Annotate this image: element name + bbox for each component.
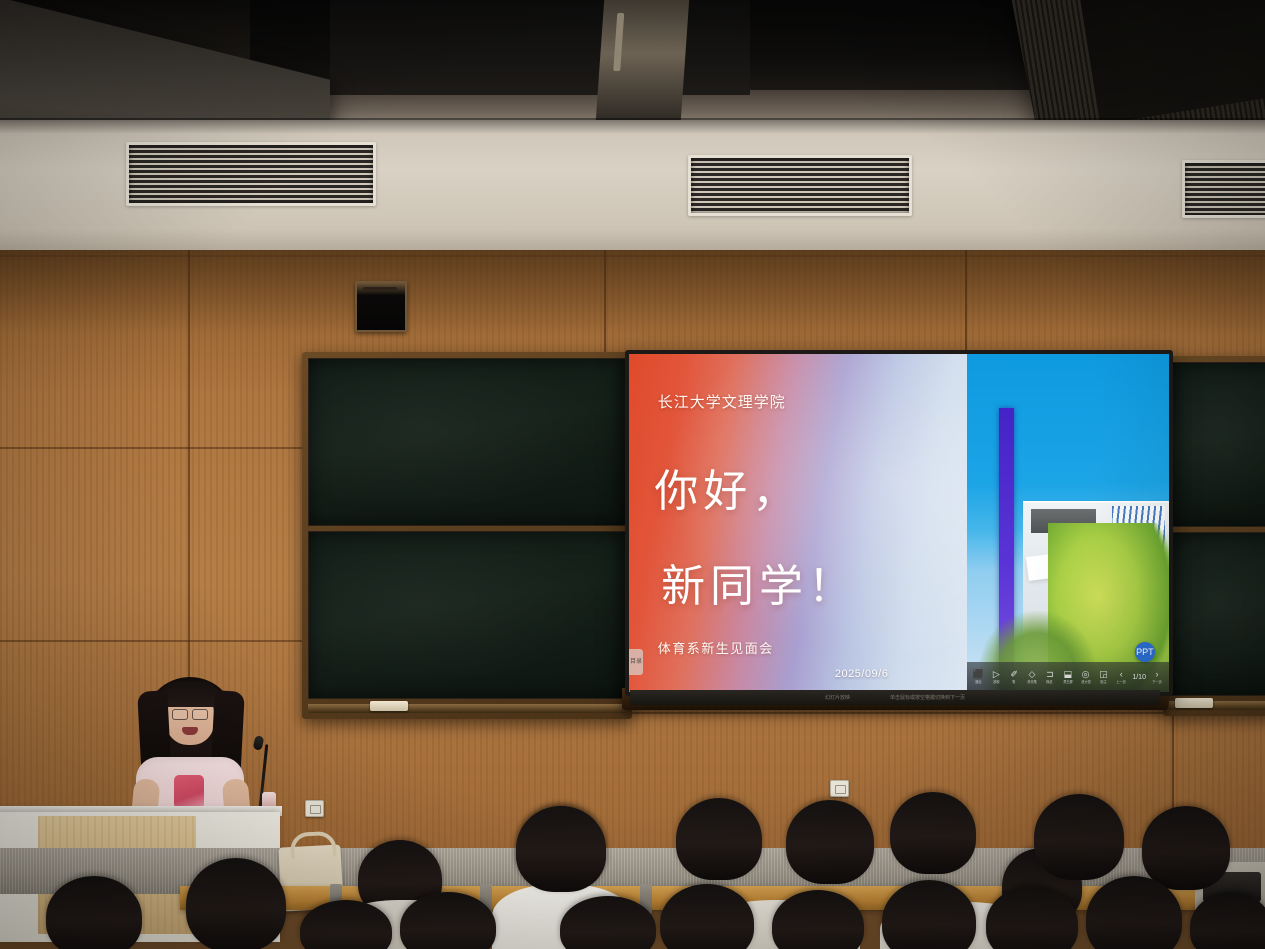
slide-organization: 长江大学文理学院	[658, 391, 786, 412]
audience-head	[1142, 806, 1230, 890]
wall-seam	[604, 250, 606, 360]
toolbar-button-highlighter[interactable]: ◇ 荧光笔	[1023, 670, 1041, 684]
chalk-eraser	[1175, 698, 1213, 708]
hvac-vent-right	[1182, 160, 1265, 218]
chalkboard-pane-lower	[1169, 532, 1265, 697]
toolbar-button-prev[interactable]: ‹ 上一页	[1112, 670, 1130, 684]
toolbar-button-magnifier[interactable]: ◎ 放大镜	[1077, 670, 1095, 684]
chalk-ledge	[308, 704, 626, 713]
pen-icon: ✐	[1010, 670, 1018, 679]
chevron-right-icon: ›	[1156, 670, 1159, 679]
slide-side-tab[interactable]: 目录	[629, 649, 643, 675]
wall-seam	[965, 250, 967, 350]
chalkboard-right	[1163, 356, 1265, 716]
wall-power-outlet	[830, 780, 849, 797]
presenter-glasses	[172, 709, 208, 718]
chalkboard-pane-lower	[308, 531, 626, 699]
chalkboard-pane-upper	[1169, 362, 1265, 527]
statusbar-left-text: 幻灯片放映	[825, 694, 850, 701]
eraser-icon: ⊐	[1046, 670, 1054, 679]
chevron-left-icon: ‹	[1120, 670, 1123, 679]
slide-photo-panel: PPT	[967, 354, 1170, 692]
audience-head	[890, 792, 976, 874]
presenter-mouth	[182, 727, 198, 735]
chalkboard-main	[302, 352, 632, 719]
audience-head	[186, 858, 286, 949]
presenter-shirt-graphic	[174, 775, 204, 809]
magnifier-icon: ◎	[1082, 670, 1090, 679]
exit-icon: ⬛	[973, 670, 984, 679]
slide-heading-line2: 新同学！	[661, 550, 857, 614]
toolbar-page-indicator: 1/10	[1130, 674, 1148, 681]
wall-speaker	[355, 281, 407, 332]
ceiling-beam	[595, 0, 689, 125]
statusbar-center-text: 单击鼠标或按空格键切换到下一页	[890, 694, 965, 701]
chalk-ledge	[1169, 701, 1265, 710]
wall-seam	[0, 640, 305, 642]
toolbar-button-exit[interactable]: ⬛ 退出	[970, 670, 988, 684]
presenter-bangs	[160, 681, 220, 707]
microphone-head	[253, 735, 265, 751]
audience-head	[46, 876, 142, 949]
chalk-eraser	[370, 701, 408, 711]
presentation-slide: 长江大学文理学院 你好， 新同学！ 体育系新生见面会 2025/09/6 目录 …	[629, 354, 1169, 692]
hvac-vent-left	[126, 142, 376, 206]
wall-seam	[0, 447, 310, 449]
slide-text-panel: 长江大学文理学院 你好， 新同学！ 体育系新生见面会 2025/09/6 目录	[629, 354, 967, 692]
toolbar-button-play[interactable]: ▷ 放映	[987, 670, 1005, 684]
wall-power-outlet	[305, 800, 324, 817]
presentation-toolbar[interactable]: ⬛ 退出 ▷ 放映 ✐ 笔 ◇ 荧光笔 ⊐ 橡皮	[967, 662, 1170, 692]
audience-head	[786, 800, 874, 884]
slide-date: 2025/09/6	[835, 668, 888, 680]
presentation-statusbar: 幻灯片放映 单击鼠标或按空格键切换到下一页	[630, 690, 1160, 705]
lecture-hall-photo: 长江大学文理学院 你好， 新同学！ 体育系新生见面会 2025/09/6 目录 …	[0, 0, 1265, 949]
projection-screen: 长江大学文理学院 你好， 新同学！ 体育系新生见面会 2025/09/6 目录 …	[625, 350, 1173, 696]
audience-head	[676, 798, 762, 880]
slide-subtitle: 体育系新生见面会	[658, 638, 774, 657]
toolbar-button-annotate[interactable]: ◲ 批注	[1095, 670, 1113, 684]
highlighter-icon: ◇	[1029, 670, 1036, 679]
toolbar-button-next[interactable]: › 下一页	[1148, 670, 1166, 684]
wall-seam	[0, 255, 1265, 257]
toolbar-button-pen[interactable]: ✐ 笔	[1005, 670, 1023, 684]
toolbar-button-eraser[interactable]: ⊐ 橡皮	[1041, 670, 1059, 684]
screen-icon: ⬓	[1063, 670, 1072, 679]
play-icon: ▷	[993, 670, 1000, 679]
audience-head	[516, 806, 606, 892]
toolbar-button-blackscreen[interactable]: ⬓ 黑白屏	[1059, 670, 1077, 684]
upper-wall-shadow	[0, 118, 1265, 134]
hvac-vent-center	[688, 155, 912, 216]
audience-head	[1034, 794, 1124, 880]
annotate-icon: ◲	[1099, 670, 1108, 679]
watermark-badge-icon: PPT	[1135, 642, 1155, 662]
chalkboard-pane-upper	[308, 358, 626, 526]
slide-heading-line1: 你好，	[654, 455, 801, 519]
